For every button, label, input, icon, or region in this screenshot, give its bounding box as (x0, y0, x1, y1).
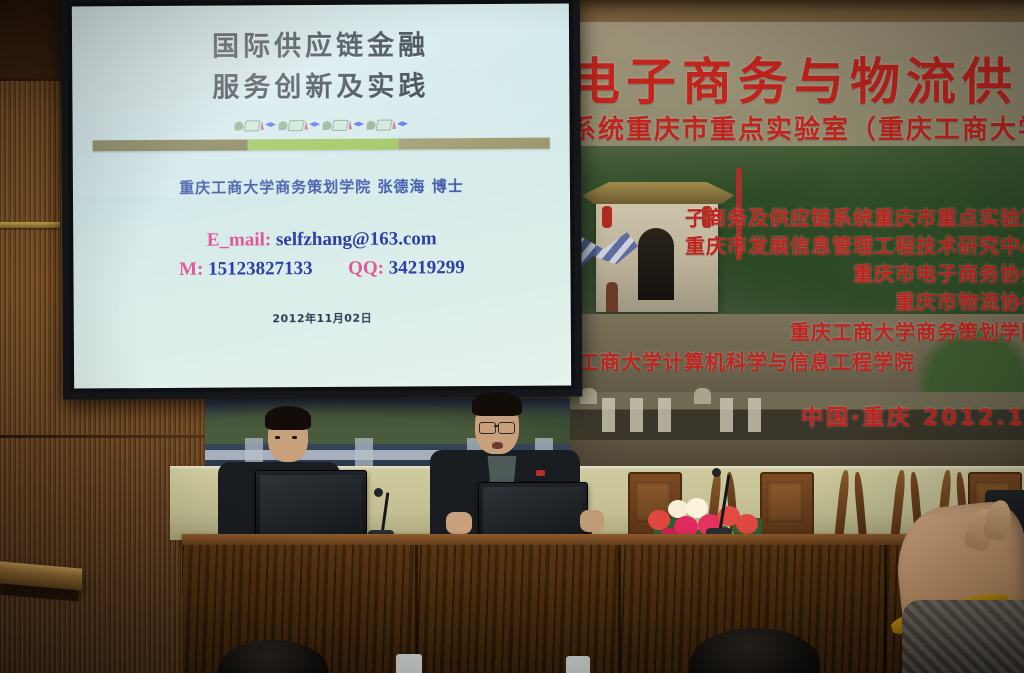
speaker-center-hair (472, 392, 522, 416)
lapel-pin-icon (536, 470, 545, 476)
podium-panel-seam (618, 545, 621, 673)
wall-seam-lower (0, 435, 205, 438)
teacup (566, 656, 590, 673)
graduation-cap-icon (322, 119, 364, 130)
banner-mural-bridge-post (580, 388, 597, 404)
banner-top-wood-frame (568, 0, 1024, 22)
qq-value: 34219299 (389, 258, 465, 279)
banner-headline: 电子商务与物流供 (570, 42, 1018, 114)
slide-title: 国际供应链金融 服务创新及实践 (212, 26, 429, 108)
graduation-cap-icon (234, 120, 276, 131)
slide-title-line-1: 国际供应链金融 (212, 26, 429, 68)
slide-title-line-2: 服务创新及实践 (212, 67, 429, 109)
speaker-center-hand-right (580, 510, 604, 532)
slide-phone-row: M: 15123827133 QQ: 34219299 (179, 254, 465, 285)
graduation-cap-icon (278, 120, 320, 131)
speaker-center-hand-left (446, 512, 472, 534)
laptop-left (255, 470, 367, 544)
projection-screen-surface: 国际供应链金融 服务创新及实践 重庆工商大学商务策划学院 张德海 博士 (72, 3, 571, 388)
banner-org-4: 重庆市物流协会 (895, 286, 1024, 315)
banner-subhead: 系统重庆市重点实验室（重庆工商大学） (570, 109, 1024, 146)
email-label: E_mail: (207, 229, 272, 250)
banner-org-5: 重庆工商大学商务策划学院 (790, 316, 1024, 345)
banner-mural-baluster (720, 398, 733, 432)
slide-decorative-border (221, 117, 421, 132)
slide-date: 2012年11月02日 (272, 310, 372, 327)
mobile-value: 15123827133 (208, 258, 313, 280)
microphone-head (712, 468, 721, 477)
banner-mural-bridge-post (694, 388, 711, 404)
conference-banner: 电子商务与物流供 系统重庆市重点实验室（重庆工商大学） 子商务及供应链系统重庆市… (568, 0, 1024, 466)
speaker-left-hair (265, 406, 311, 430)
slide-color-bar-segment-2 (248, 139, 399, 151)
slide-color-bar (93, 138, 550, 152)
podium-panel-seam (884, 545, 887, 673)
banner-mural-figure (606, 282, 618, 312)
photo-scene: 电子商务与物流供 系统重庆市重点实验室（重庆工商大学） 子商务及供应链系统重庆市… (0, 0, 1024, 673)
teacup (396, 654, 422, 673)
slide-color-bar-segment-3 (399, 138, 550, 150)
microphone-head (374, 488, 383, 497)
slide-author: 重庆工商大学商务策划学院 张德海 博士 (179, 175, 464, 198)
banner-mural-baluster (658, 398, 671, 432)
banner-mural-baluster (748, 398, 761, 432)
eyeglasses-right-lens (498, 422, 515, 434)
banner-org-1: 子商务及供应链系统重庆市重点实验室 (685, 202, 1024, 231)
banner-mural-temple-roof (582, 182, 734, 204)
graduation-cap-icon (366, 119, 408, 130)
slide-color-bar-segment-1 (93, 139, 249, 151)
projection-screen: 国际供应链金融 服务创新及实践 重庆工商大学商务策划学院 张德海 博士 (61, 0, 582, 400)
chair-backrest (828, 470, 872, 538)
banner-mural-gate-door (638, 228, 674, 300)
banner-org-6: 庆工商大学计算机科学与信息工程学院 (568, 346, 1024, 375)
banner-org-2: 重庆市发展信息管理工程技术研究中心 (685, 230, 1024, 259)
banner-mural-baluster (630, 398, 643, 432)
mobile-label: M: (179, 259, 203, 280)
slide-contact-block: E_mail: selfzhang@163.com M: 15123827133… (179, 224, 465, 285)
email-value: selfzhang@163.com (276, 228, 437, 250)
banner-footer: 中国·重庆 2012.1 (801, 400, 1024, 432)
presentation-slide: 国际供应链金融 服务创新及实践 重庆工商大学商务策划学院 张德海 博士 (72, 3, 571, 388)
banner-mural-lantern (602, 206, 612, 228)
qq-label: QQ: (348, 258, 384, 279)
banner-org-3: 重庆市电子商务协会 (853, 258, 1024, 287)
brass-trim-strip (0, 222, 60, 228)
banner-mural-baluster (602, 398, 615, 432)
eyeglasses-left-lens (479, 422, 496, 434)
laptop-center (478, 482, 588, 542)
slide-email-row: E_mail: selfzhang@163.com (179, 224, 465, 255)
sleeve (902, 600, 1024, 673)
